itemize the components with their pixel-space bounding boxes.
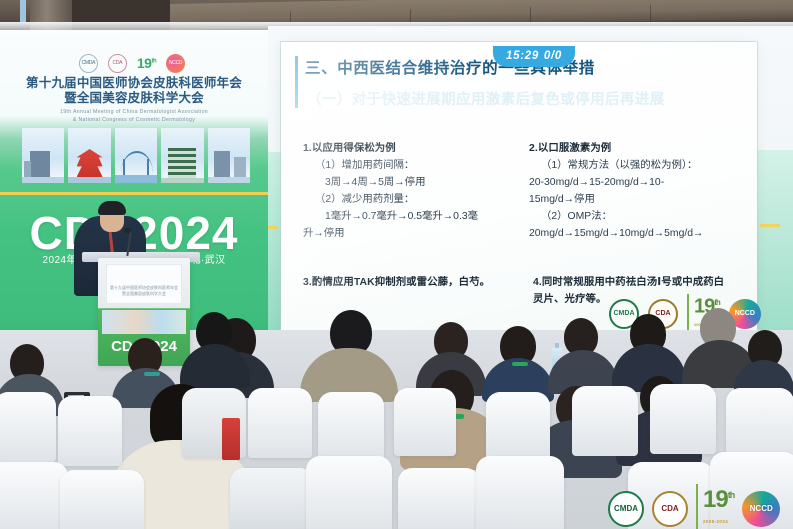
landmark-illustration (208, 128, 250, 183)
slide-text-line: 4.同时常规服用中药祛白汤Ⅰ号或中成药白 (533, 274, 747, 291)
podium-plate: 第十九届中国医师协会皮肤科医师年会 暨全国美容皮肤科学大会 (106, 264, 182, 304)
wall-yellow-accent-right (760, 224, 780, 227)
red-folder (222, 418, 240, 460)
nineteenth-edition-icon: 19th2005-2024 (696, 484, 734, 529)
cda-logo-icon: CDA (652, 491, 688, 527)
chair (398, 468, 480, 529)
landmark-illustration (68, 128, 110, 183)
chair (726, 388, 793, 458)
slide-text-line: （2）OMP法： (529, 208, 747, 225)
slide-text-line: 20-30mg/d→15-20mg/d→10- (529, 174, 747, 191)
slide-text-line: 3.酌情应用TAK抑制剂或雷公藤，白芍。 (303, 274, 525, 291)
projection-screen: 三、中西医结合维持治疗的一些具体举措 （一）对于快速进展期应用激素后复色或停用后… (281, 42, 757, 340)
timer-page-count: 0/0 (544, 50, 562, 62)
slide-text-line: （1）常规方法（以强的松为例）： (529, 157, 747, 174)
chair (572, 386, 638, 456)
chair (58, 396, 122, 466)
chair (650, 384, 716, 454)
backdrop-yellow-rule (0, 192, 268, 195)
landmark-illustration (22, 128, 64, 183)
landmark-illustration (115, 128, 157, 183)
chair (230, 468, 314, 529)
chair (0, 462, 68, 529)
slide-column-bottom-left: 3.酌情应用TAK抑制剂或雷公藤，白芍。 (303, 274, 525, 291)
slide-text-line: 2.以口服激素为例 (529, 140, 747, 157)
slide-heading-secondary: （一）对于快速进展期应用激素后复色或停用后再进展 (307, 90, 757, 110)
speaker-hair (98, 201, 126, 215)
timer-elapsed: 15:29 (506, 50, 539, 62)
chair (486, 392, 550, 462)
slide-text-line: （1）增加用药间隔： (303, 157, 531, 174)
chair (60, 470, 144, 529)
cmda-logo-icon: CMDA (79, 54, 98, 73)
chair (248, 388, 312, 458)
slide-text-line: 3周→4周→5周→停用 (303, 174, 531, 191)
slide-text-line: 1.以应用得保松为例 (303, 140, 531, 157)
slide-column-left: 1.以应用得保松为例（1）增加用药间隔：3周→4周→5周→停用（2）减少用药剂量… (303, 140, 531, 242)
corner-sponsor-logos: CMDA CDA 19th2005-2024 NCCD (608, 484, 780, 529)
ceiling-blue-accent (20, 0, 26, 22)
slide-text-line: （2）减少用药剂量： (303, 191, 531, 208)
nccd-logo-icon: NCCD (742, 491, 780, 527)
slide-text-line: 20mg/d→15mg/d→10mg/d→5mg/d→ (529, 225, 747, 242)
slide-text-line: 升→停用 (303, 225, 531, 242)
slide-accent-bar (295, 56, 298, 108)
chair (394, 388, 456, 456)
microphone-icon (124, 228, 131, 233)
city-landmark-strip (22, 128, 250, 183)
podium-city-strip (102, 310, 186, 334)
cmda-logo-icon: CMDA (608, 491, 644, 527)
backdrop-title-en: 19th Annual Meeting of China Dermatologi… (0, 108, 268, 124)
slide-text-line: 15mg/d→停用 (529, 191, 747, 208)
nccd-logo-icon: NCCD (166, 54, 185, 73)
chair (306, 456, 392, 529)
slide-column-right: 2.以口服激素为例（1）常规方法（以强的松为例）：20-30mg/d→15-20… (529, 140, 747, 242)
conference-room-scene: CMDA CDA 19th NCCD 第十九届中国医师协会皮肤科医师年会 暨全国… (0, 0, 793, 529)
backdrop-logo-row: CMDA CDA 19th NCCD (52, 52, 212, 74)
landmark-illustration (161, 128, 203, 183)
cda-logo-icon: CDA (108, 54, 127, 73)
nineteenth-edition-icon: 19th (137, 55, 156, 71)
backdrop-title-cn: 第十九届中国医师协会皮肤科医师年会 暨全国美容皮肤科学大会 (0, 76, 268, 106)
chair (0, 392, 56, 462)
chair (476, 456, 564, 529)
chair (318, 392, 384, 462)
slide-text-line: 1毫升→0.7毫升→0.5毫升→0.3毫 (303, 208, 531, 225)
presentation-timer-badge[interactable]: 15:290/0 (493, 46, 575, 67)
